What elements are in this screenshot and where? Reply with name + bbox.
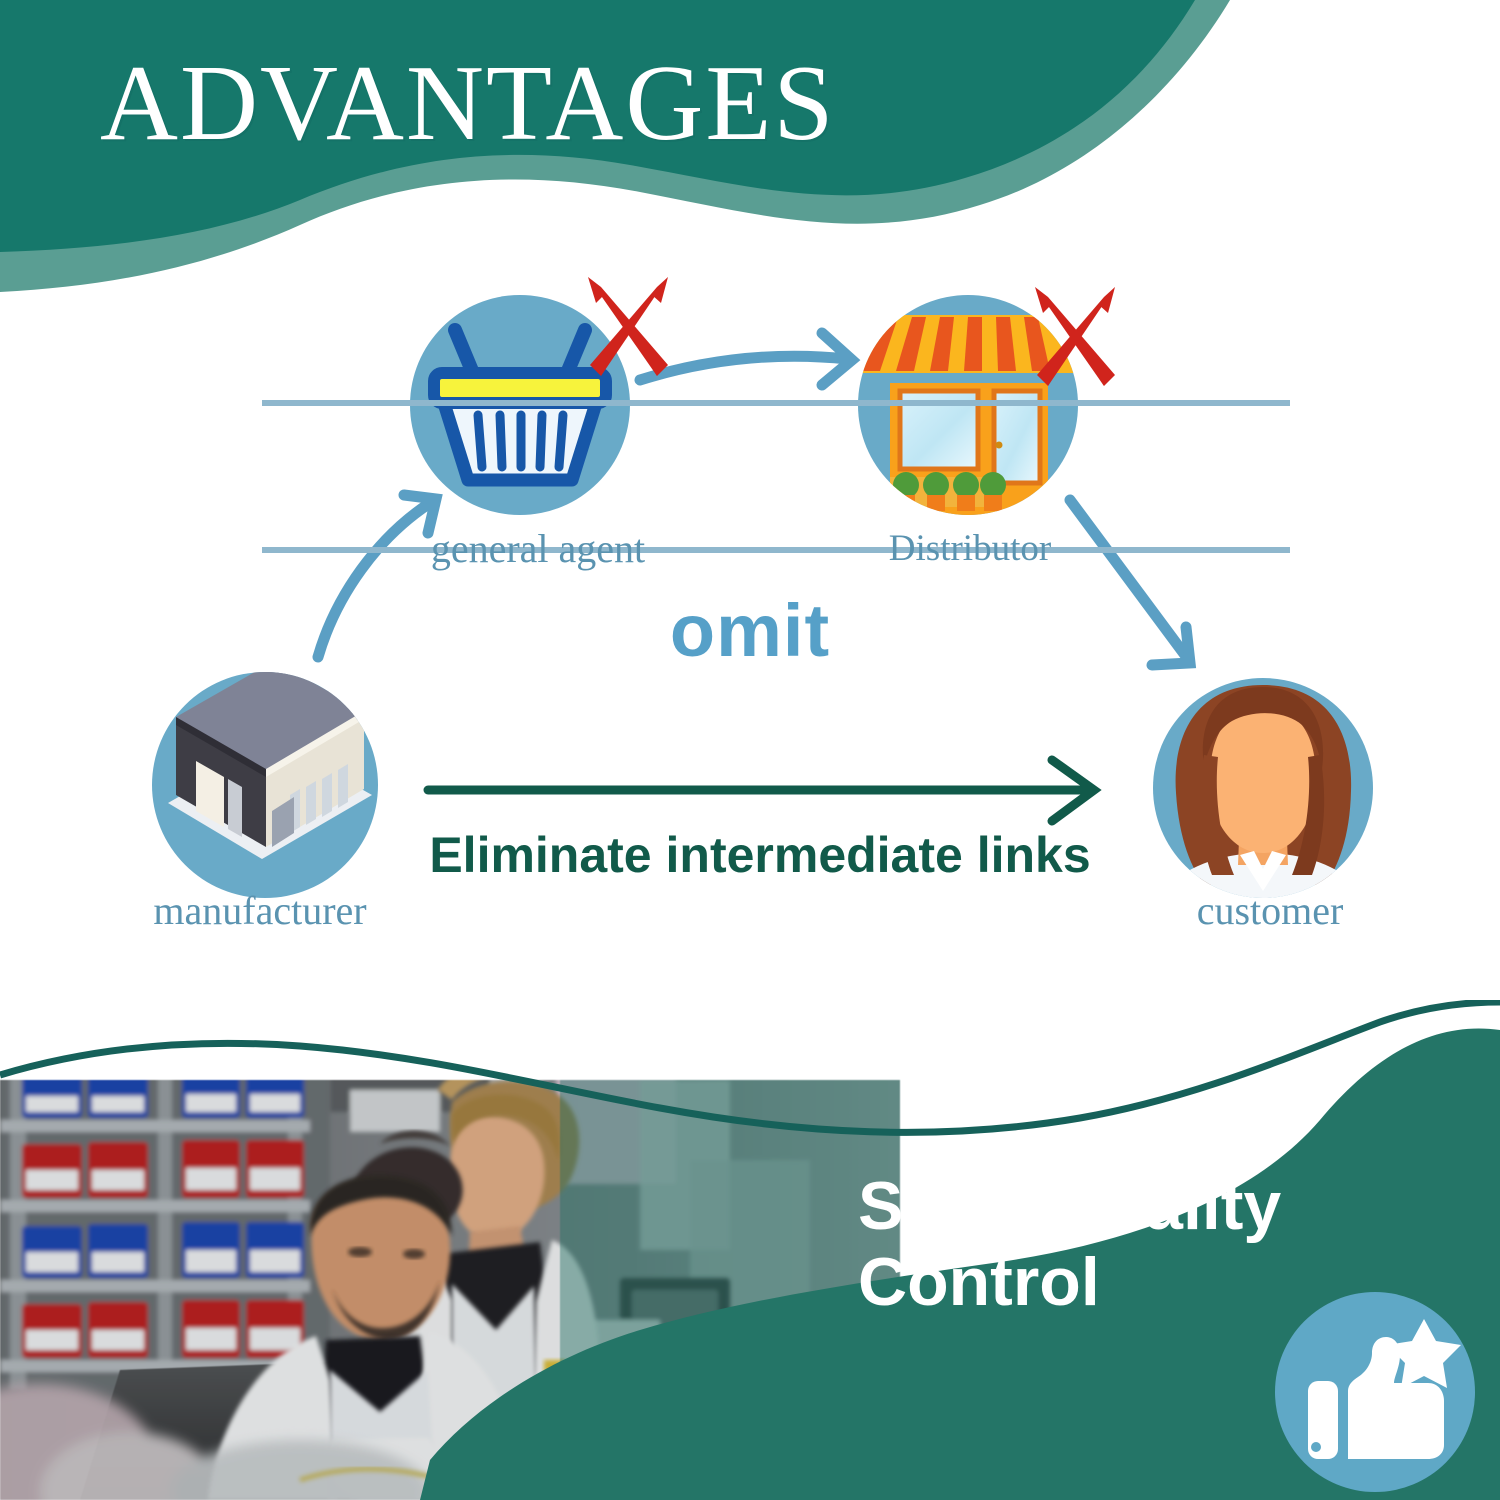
arrow-distributor-to-customer <box>1070 500 1190 665</box>
storefront-icon <box>860 315 1078 515</box>
general-agent-label: general agent <box>413 525 663 572</box>
red-cross-agent <box>588 277 668 376</box>
page-title: ADVANTAGES <box>100 42 835 166</box>
customer-label: customer <box>1155 887 1385 934</box>
supply-chain-diagram: general agent Distributor manufacturer c… <box>0 255 1500 975</box>
arrow-eliminate-links <box>428 760 1094 821</box>
qc-title-line-1: Strict Quality <box>858 1168 1418 1244</box>
infographic-canvas: ADVANTAGES <box>0 0 1500 1500</box>
manufacturer-label: manufacturer <box>135 887 385 934</box>
arrow-manufacturer-to-agent <box>318 495 436 657</box>
eliminate-links-label: Eliminate intermediate links <box>380 826 1140 884</box>
arrow-agent-to-distributor <box>640 333 852 385</box>
thumbs-up-badge <box>1268 1285 1483 1500</box>
thumbs-up-star-icon <box>1268 1285 1483 1500</box>
omit-label: omit <box>560 588 940 673</box>
green-wave-line <box>0 1002 1500 1132</box>
distributor-label: Distributor <box>855 527 1085 570</box>
